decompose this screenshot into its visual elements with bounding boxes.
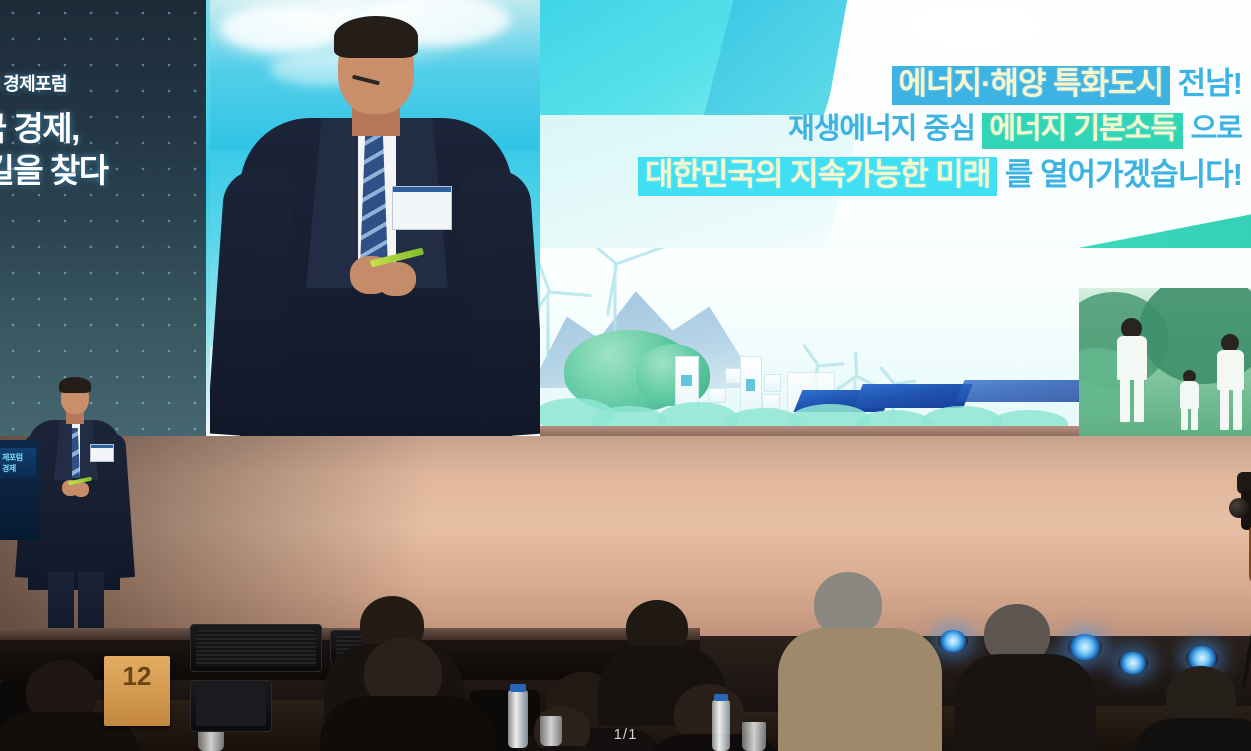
headline-highlight-1: 에너지·해양 특화도시 bbox=[892, 66, 1171, 105]
page-indicator: 1/1 bbox=[0, 726, 1251, 743]
slide-headline: 에너지·해양 특화도시 전남! 재생에너지 중심 에너지 기본소득 으로 대한민… bbox=[620, 66, 1245, 196]
facility-building bbox=[764, 374, 781, 392]
table-number-card: 12 bbox=[104, 656, 170, 726]
slide-headline-line-3: 대한민국의 지속가능한 미래 를 열어가겠습니다! bbox=[620, 157, 1245, 196]
table-number-value: 12 bbox=[104, 656, 170, 696]
screen-left-panel bbox=[0, 0, 210, 436]
spotlight-icon bbox=[1068, 634, 1102, 660]
family-photo bbox=[1079, 288, 1251, 436]
main-projection-screen: 에너지·해양 특화도시 전남! 재생에너지 중심 에너지 기본소득 으로 대한민… bbox=[0, 0, 1251, 436]
headline-highlight-3: 대한민국의 지속가능한 미래 bbox=[638, 157, 997, 196]
bottle-cap bbox=[510, 684, 526, 692]
conference-hall-photo: 에너지·해양 특화도시 전남! 재생에너지 중심 에너지 기본소득 으로 대한민… bbox=[0, 0, 1251, 751]
headline-plain-1: 전남! bbox=[1175, 68, 1245, 104]
facility-building bbox=[740, 356, 762, 416]
slide-headline-line-2: 재생에너지 중심 에너지 기본소득 으로 bbox=[620, 113, 1245, 150]
laptop-screen bbox=[190, 680, 272, 732]
speaker-inset-video bbox=[210, 0, 540, 436]
headline-plain-2a: 재생에너지 중심 bbox=[785, 115, 978, 149]
stage-monitor bbox=[190, 624, 322, 672]
spotlight-icon bbox=[938, 630, 968, 652]
name-badge-stage bbox=[90, 444, 114, 462]
podium-text-line-2: 경제 bbox=[2, 463, 36, 474]
solar-panel-array bbox=[853, 384, 973, 408]
headline-plain-2b: 으로 bbox=[1188, 115, 1245, 149]
slide-headline-line-1: 에너지·해양 특화도시 전남! bbox=[620, 66, 1245, 105]
forum-subtitle: 제13회 경제포럼 bbox=[0, 70, 188, 96]
name-badge bbox=[392, 186, 452, 230]
facility-building bbox=[708, 388, 726, 403]
forum-headline-line-1: 민국 경제, bbox=[0, 108, 188, 150]
forum-title-block: 제13회 경제포럼 민국 경제, 서 길을 찾다 bbox=[0, 70, 188, 192]
forum-headline-line-2: 서 길을 찾다 bbox=[0, 150, 188, 192]
spotlight-icon bbox=[1118, 652, 1148, 674]
podium-text-line-1: 제포럼 bbox=[2, 452, 36, 463]
podium-display-text: 제포럼 경제 bbox=[2, 452, 36, 474]
headline-highlight-2: 에너지 기본소득 bbox=[982, 113, 1183, 150]
headline-plain-3: 를 열어가겠습니다! bbox=[1002, 159, 1245, 195]
solar-panel-array bbox=[956, 380, 1095, 402]
bottle-cap bbox=[714, 694, 728, 701]
facility-building bbox=[762, 394, 780, 409]
dot-pattern bbox=[0, 0, 210, 436]
